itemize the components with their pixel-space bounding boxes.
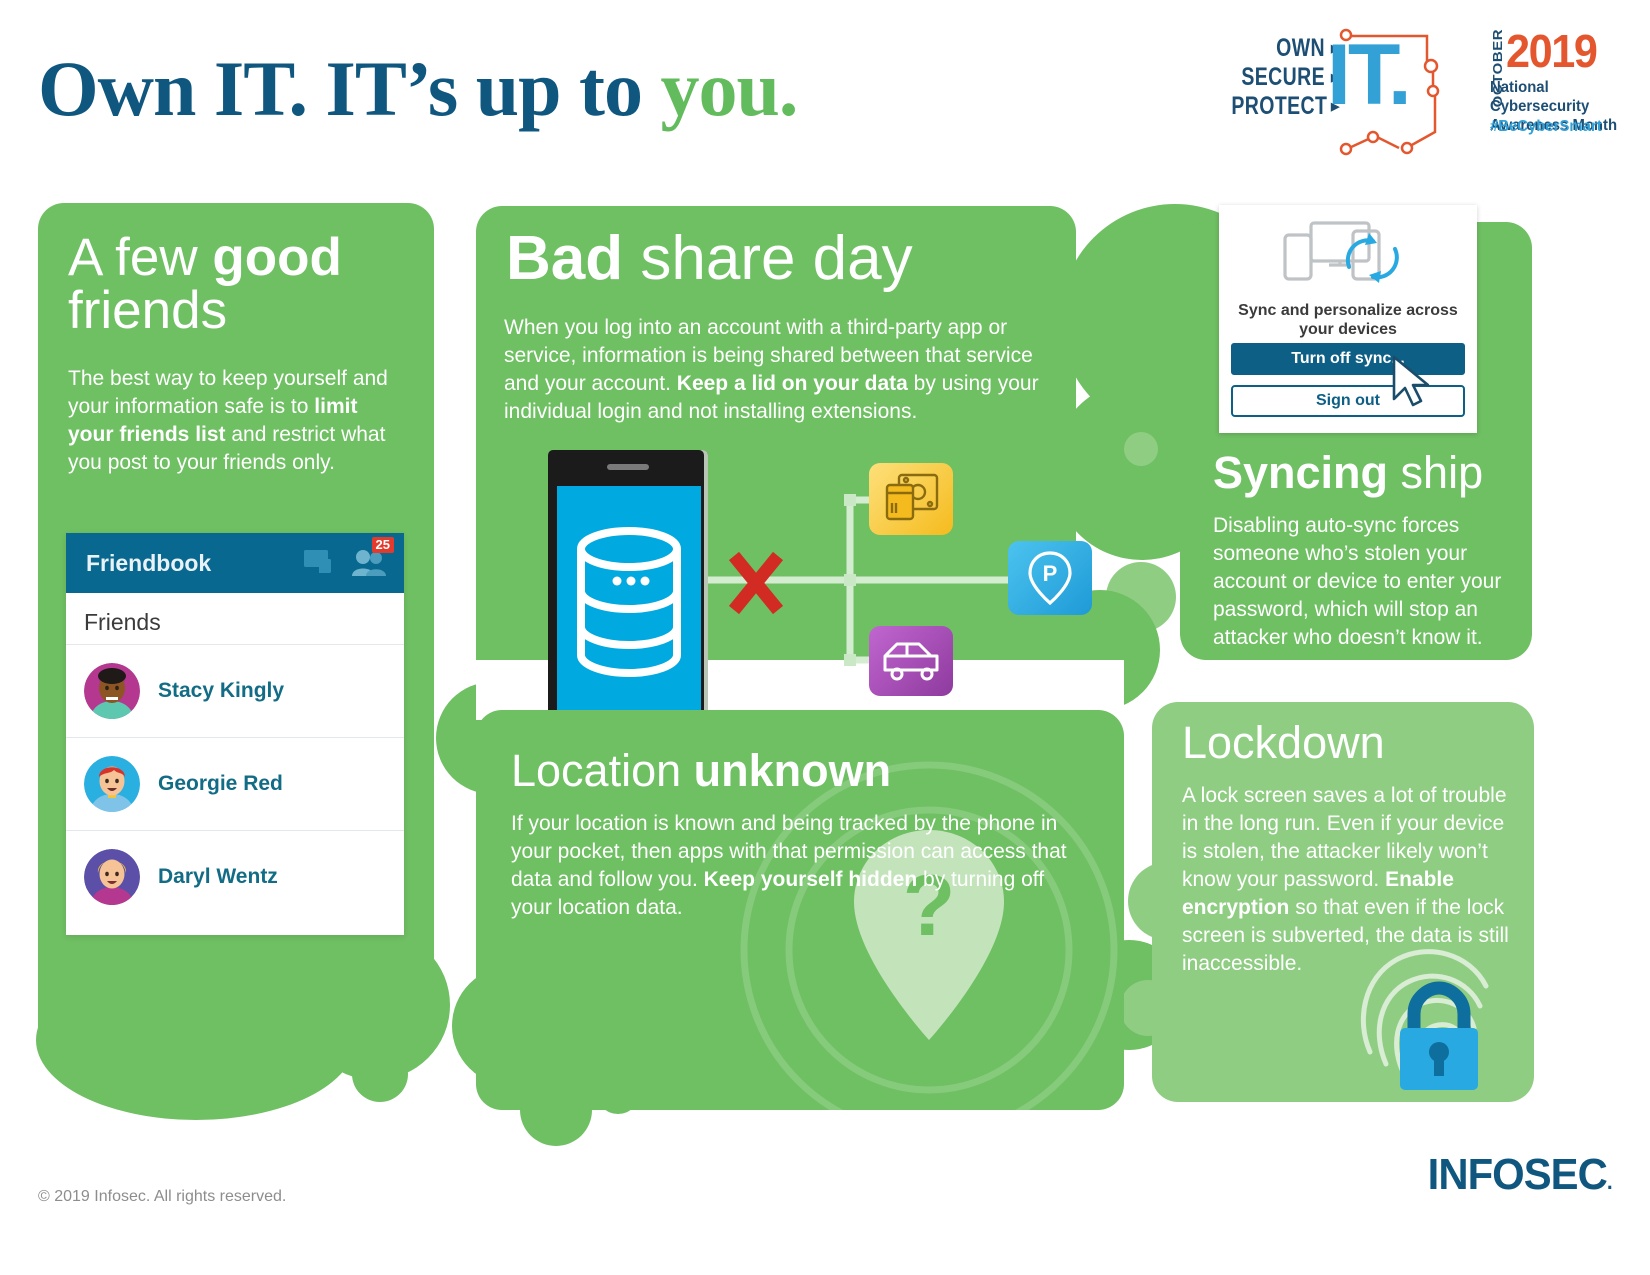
car-icon [869,626,953,696]
padlock-icon [1384,978,1494,1094]
database-icon [557,486,701,728]
ncsam-word-own: OWN [1231,34,1325,63]
parking-pin-icon: P [1008,541,1092,615]
share-heading-light: share day [623,224,913,293]
sync-caption: Sync and personalize across your devices [1231,301,1465,339]
lockdown-heading-light: Lockdown [1182,717,1385,768]
infographic-canvas: Own IT. IT’s up to you. OWN SECURE PROT [0,0,1650,1275]
friends-heading-light: A few [68,228,212,287]
ncsam-it-mark: IT. [1327,32,1409,118]
friends-heading: A few good friends [68,231,413,337]
friends-heading-bold: good [212,228,342,287]
friend-name: Stacy Kingly [158,679,284,703]
sync-heading-light: ship [1388,447,1483,498]
messages-icon[interactable] [304,550,338,576]
friends-body: The best way to keep yourself and your i… [68,365,398,477]
ncsam-word-protect: PROTECT [1231,92,1325,121]
friend-requests-icon[interactable] [352,549,388,577]
avatar [84,663,140,719]
lockdown-heading: Lockdown [1182,720,1522,765]
blocked-x-icon [728,550,784,620]
panel-lockdown: Lockdown A lock screen saves a lot of tr… [1152,702,1534,1102]
app-tile-rideshare[interactable] [869,626,953,696]
phone-speaker [607,464,649,470]
infosec-wordmark: INFOSEC [1428,1150,1607,1199]
sync-heading: Syncing ship [1213,450,1523,495]
location-heading-light: Location [511,745,694,796]
friendbook-section-label: Friends [66,593,404,644]
friend-list-item[interactable]: Georgie Red [66,737,404,830]
ncsam-logo: OWN SECURE PROTECT IT. OCTOBER 2019 Nati… [1205,22,1625,162]
page-title-accent: you. [661,45,798,132]
copyright-text: © 2019 Infosec. All rights reserved. [38,1188,286,1206]
panel-location-unknown: ? Location unknown If your location is k… [476,710,1124,1110]
decorative-blob [1124,432,1158,466]
share-heading-bold: Bad [506,224,623,293]
devices-sync-icon [1277,219,1417,297]
share-heading: Bad share day [506,228,1066,290]
ncsam-hashtag: #BeCyberSmart [1490,118,1602,136]
friendbook-icons: 25 [304,549,388,577]
sync-body-1: Disabling auto-sync forces someone who’s… [1213,514,1501,649]
app-tile-parking[interactable]: P [1008,541,1092,615]
ncsam-words: OWN SECURE PROTECT [1231,34,1325,121]
sync-heading-bold: Syncing [1213,447,1388,498]
sync-body: Disabling auto-sync forces someone who’s… [1213,512,1513,652]
ncsam-word-secure: SECURE [1231,63,1325,92]
page-title-plain: Own IT. IT’s up to [38,45,661,132]
location-heading-bold: unknown [694,745,891,796]
friend-requests-badge: 25 [372,537,394,553]
infosec-logo: INFOSEC. [1428,1150,1612,1200]
lockdown-body-1: A lock screen saves a lot of trouble in … [1182,784,1507,891]
money-card-icon [869,463,953,535]
lockdown-body: A lock screen saves a lot of trouble in … [1182,782,1512,977]
app-tile-payment[interactable] [869,463,953,535]
share-body: When you log into an account with a thir… [504,314,1049,426]
friendbook-titlebar: Friendbook 25 [66,533,404,593]
sync-settings-popup: Sync and personalize across your devices… [1219,205,1477,433]
friendbook-widget: Friendbook 25 Friends [66,533,404,935]
friend-list-item[interactable]: Stacy Kingly [66,644,404,737]
ncsam-year: 2019 [1506,28,1597,74]
avatar [84,756,140,812]
friendbook-title: Friendbook [86,550,304,577]
mouse-cursor-icon [1390,355,1434,411]
ncsam-subtitle-line1: National Cybersecurity [1490,79,1589,115]
share-body-bold: Keep a lid on your data [677,372,908,395]
location-body: If your location is known and being trac… [511,810,1071,922]
phone-screen [557,486,701,728]
svg-text:P: P [1043,561,1058,586]
infosec-dot: . [1607,1169,1612,1194]
friend-name: Georgie Red [158,772,283,796]
page-title: Own IT. IT’s up to you. [38,44,797,134]
friends-heading-light2: friends [68,281,227,340]
friend-list-item[interactable]: Daryl Wentz [66,830,404,923]
location-heading: Location unknown [511,748,1071,793]
location-body-bold: Keep yourself hidden [704,868,918,891]
avatar [84,849,140,905]
smartphone-device [548,450,708,732]
friend-name: Daryl Wentz [158,865,278,889]
